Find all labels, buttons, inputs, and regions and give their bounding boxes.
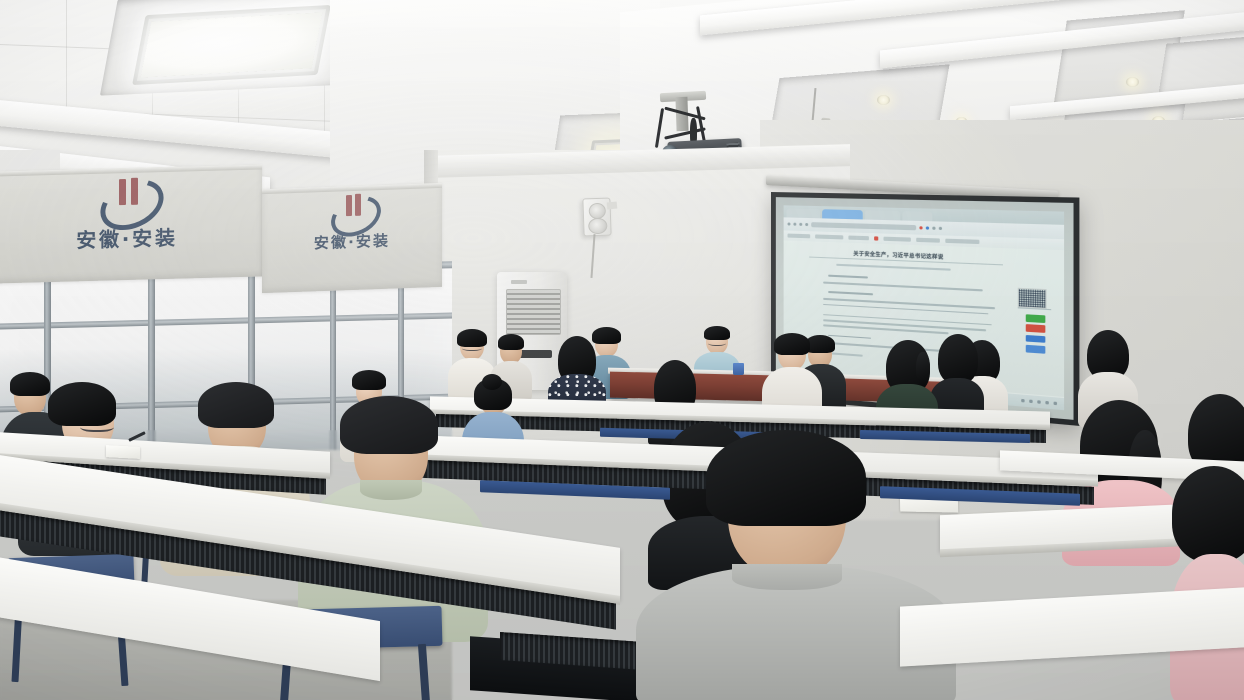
speaker-mount (607, 201, 618, 209)
profile-icon[interactable] (932, 227, 935, 230)
status-dot-1 (1021, 399, 1024, 403)
article-para-2a (823, 298, 995, 309)
polo-collar (360, 480, 422, 500)
extension-icon[interactable] (925, 227, 928, 230)
blind-rail-left (0, 164, 262, 176)
classroom-photo: 安徽·安装 安徽·安装 (0, 0, 1244, 700)
downlight-7 (877, 95, 890, 105)
article-heading-1 (828, 275, 868, 278)
bookmark-1[interactable] (788, 233, 810, 238)
menu-icon[interactable] (938, 227, 941, 230)
address-bar[interactable] (811, 222, 915, 230)
weibo-share-icon[interactable] (1026, 324, 1046, 332)
presenter-glasses-icon (708, 339, 726, 346)
qq-share-icon[interactable] (1026, 335, 1046, 344)
reload-icon[interactable] (800, 223, 803, 226)
ac-vent-grille (506, 289, 561, 335)
bookmark-2[interactable] (815, 234, 843, 239)
polo-collar-front (732, 564, 842, 590)
notebook-left (106, 445, 140, 459)
attendee-right-foreground (1170, 470, 1244, 700)
speaker-woofer-icon (588, 218, 608, 235)
attendee-glasses-icon (80, 420, 114, 432)
ac-brand-label (511, 280, 527, 284)
back-icon[interactable] (788, 223, 791, 226)
status-dot-4 (1045, 401, 1048, 405)
wechat-share-icon[interactable] (1026, 314, 1046, 322)
attendee-polkadot-dress (548, 338, 606, 408)
speaker-tweeter-icon (589, 203, 607, 220)
article-heading-2 (828, 291, 873, 295)
home-icon[interactable] (806, 223, 809, 226)
qr-code (1017, 288, 1046, 309)
record-icon[interactable] (919, 226, 922, 229)
link-share-icon[interactable] (1026, 345, 1046, 354)
anhui-installation-logo-icon-2 (330, 197, 374, 228)
forward-icon[interactable] (794, 223, 797, 226)
status-dot-3 (1037, 400, 1040, 404)
roller-blind-left[interactable]: 安徽·安装 (0, 164, 262, 283)
bookmark-3[interactable] (848, 235, 869, 240)
status-dot-2 (1029, 400, 1032, 404)
roller-blind-right[interactable]: 安徽·安装 (262, 183, 442, 293)
blue-cup (733, 363, 744, 375)
bookmark-4[interactable] (884, 236, 911, 242)
blind-rail-right (262, 183, 442, 194)
anhui-installation-logo-icon (99, 181, 155, 218)
bookmark-6[interactable] (946, 238, 979, 244)
article-para-1a (823, 282, 983, 292)
article-meta (836, 264, 951, 270)
status-dot-5 (1053, 402, 1057, 406)
presenter-hair (704, 326, 730, 340)
bookmark-flag-icon[interactable] (874, 236, 878, 240)
bookmark-5[interactable] (916, 237, 941, 243)
downlight-1 (1126, 77, 1139, 87)
ceiling-led-panel-left (132, 5, 331, 85)
